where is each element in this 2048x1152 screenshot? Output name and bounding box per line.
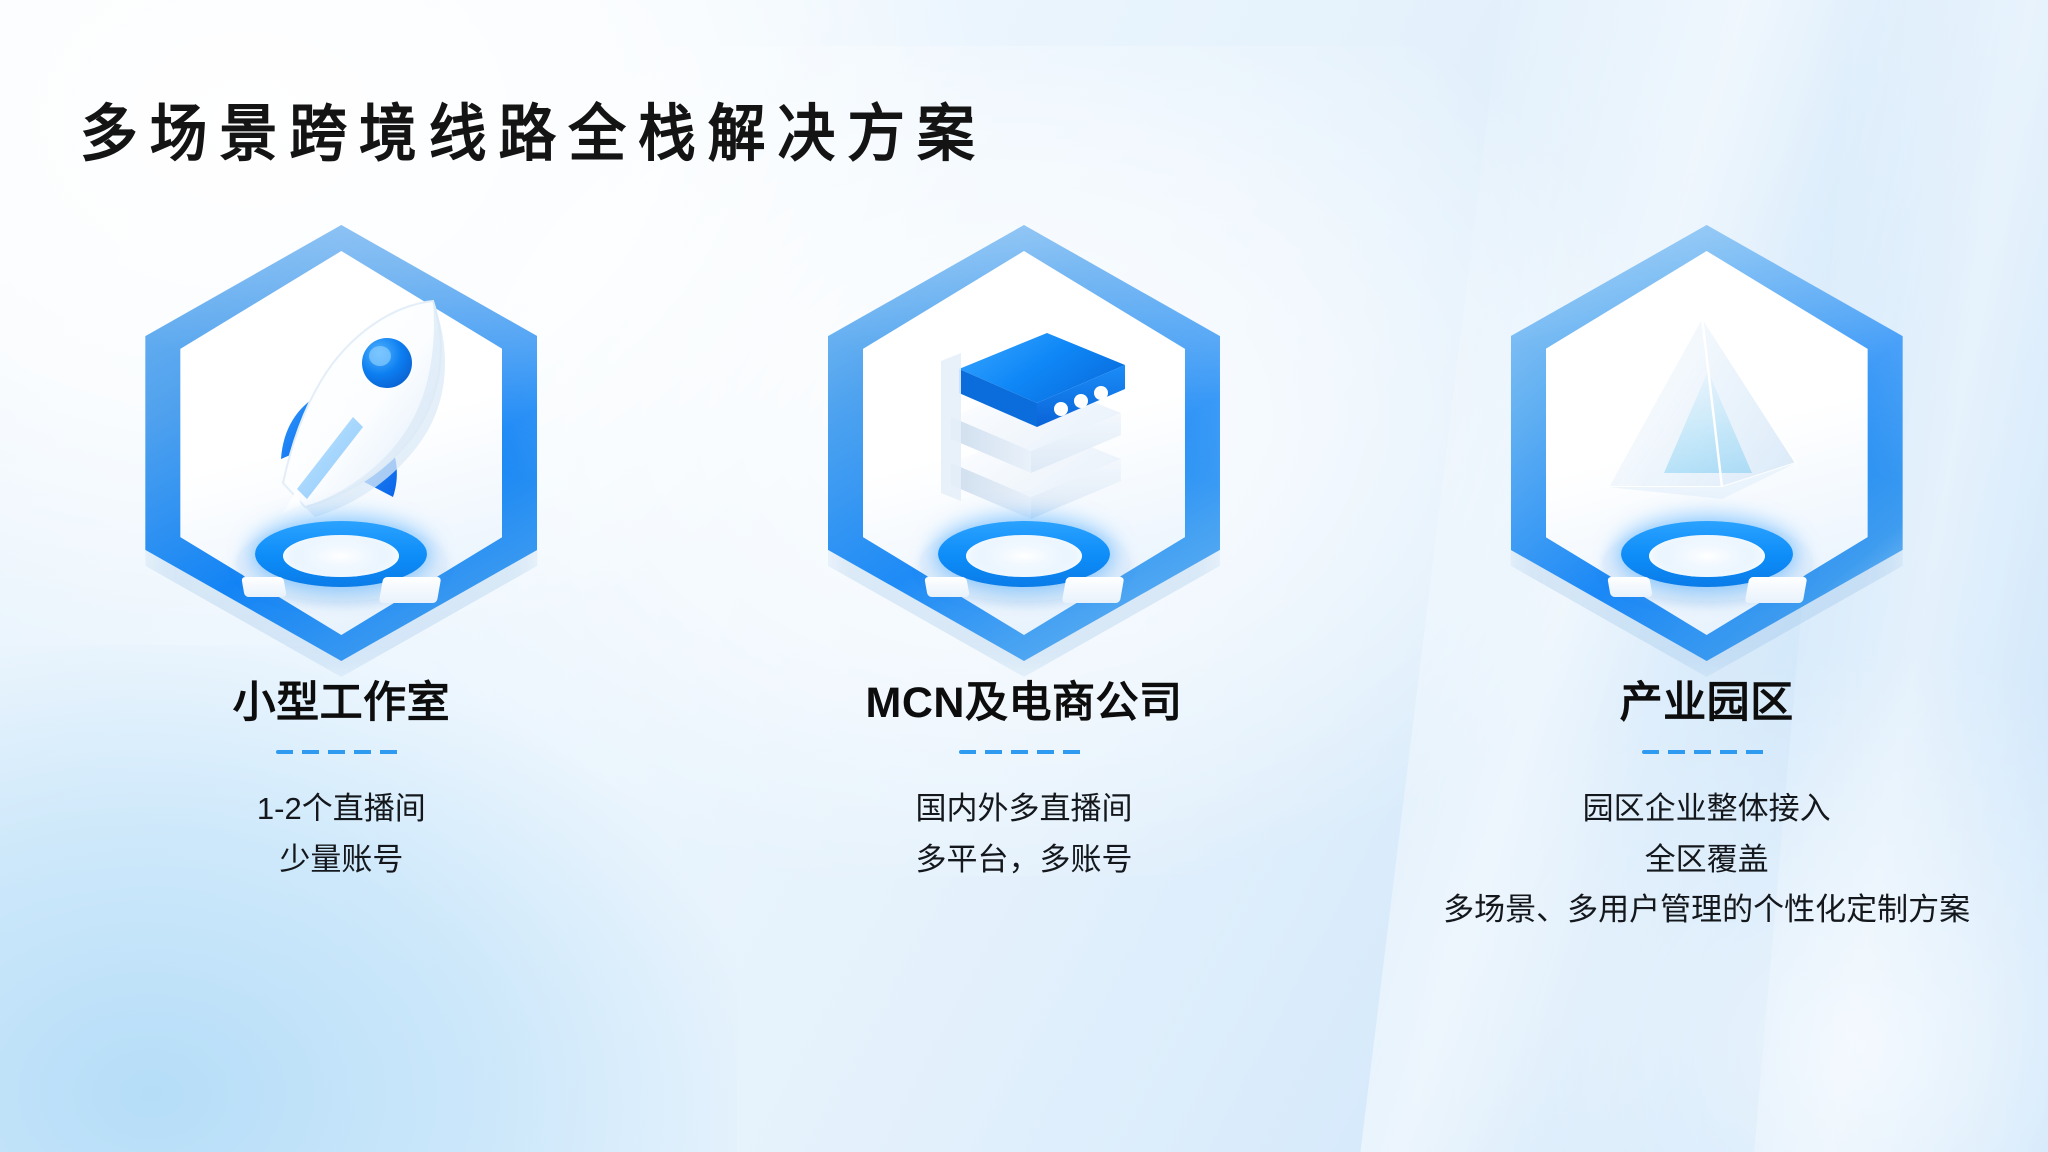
pedestal-notch-right — [1062, 577, 1125, 603]
glow-ring-pedestal — [235, 505, 447, 601]
card-title: 产业园区 — [1620, 679, 1794, 728]
glow-ring-pedestal — [1601, 505, 1813, 601]
dashed-divider — [276, 750, 406, 754]
hexagon-badge-rocket — [141, 225, 541, 665]
card-body-line: 全区覆盖 — [1443, 835, 1970, 885]
hexagon-badge-server-stack — [824, 225, 1224, 665]
dashed-divider — [1642, 750, 1772, 754]
pedestal-glow-core — [283, 535, 399, 577]
hexagon-artwork — [1557, 277, 1857, 607]
card-body: 园区企业整体接入 全区覆盖 多场景、多用户管理的个性化定制方案 — [1443, 784, 1970, 935]
card-body-line: 多平台，多账号 — [915, 835, 1132, 885]
hexagon-artwork — [191, 277, 491, 607]
card-body: 国内外多直播间 多平台，多账号 — [915, 784, 1132, 884]
card-body: 1-2个直播间 少量账号 — [257, 784, 426, 884]
pedestal-glow-core — [1649, 535, 1765, 577]
scenario-card-small-studio[interactable]: 小型工作室 1-2个直播间 少量账号 — [41, 225, 641, 885]
pedestal-notch-left — [924, 577, 970, 597]
page-title: 多场景跨境线路全栈解决方案 — [80, 104, 987, 166]
card-title: MCN及电商公司 — [866, 679, 1183, 728]
pedestal-notch-right — [1744, 577, 1807, 603]
scenario-card-industrial-park[interactable]: 产业园区 园区企业整体接入 全区覆盖 多场景、多用户管理的个性化定制方案 — [1407, 225, 2007, 935]
scenario-card-row: 小型工作室 1-2个直播间 少量账号 — [0, 225, 2048, 1105]
pedestal-notch-left — [1607, 577, 1653, 597]
pedestal-notch-right — [379, 577, 442, 603]
pedestal-notch-left — [242, 577, 288, 597]
pedestal-glow-core — [966, 535, 1082, 577]
card-body-line: 1-2个直播间 — [257, 784, 426, 834]
card-body-line: 园区企业整体接入 — [1443, 784, 1970, 834]
hexagon-badge-pyramid — [1507, 225, 1907, 665]
card-body-line: 国内外多直播间 — [915, 784, 1132, 834]
card-body-line: 多场景、多用户管理的个性化定制方案 — [1443, 885, 1970, 935]
dashed-divider — [959, 750, 1089, 754]
card-body-line: 少量账号 — [257, 835, 426, 885]
hexagon-artwork — [874, 277, 1174, 607]
glow-ring-pedestal — [918, 505, 1130, 601]
card-title: 小型工作室 — [233, 679, 451, 728]
scenario-card-mcn-ecommerce[interactable]: MCN及电商公司 国内外多直播间 多平台，多账号 — [724, 225, 1324, 885]
